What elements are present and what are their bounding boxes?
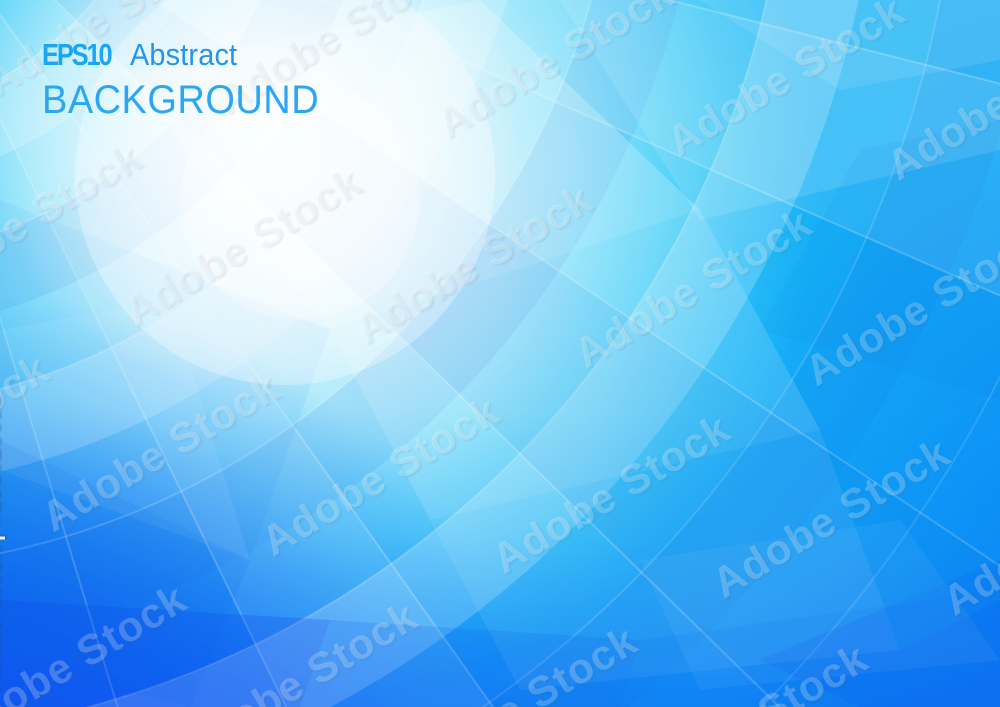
corner-glow-layer <box>0 0 1000 707</box>
abstract-background-canvas: Adobe Stock Adobe Stock Adobe Stock Adob… <box>0 0 1000 707</box>
